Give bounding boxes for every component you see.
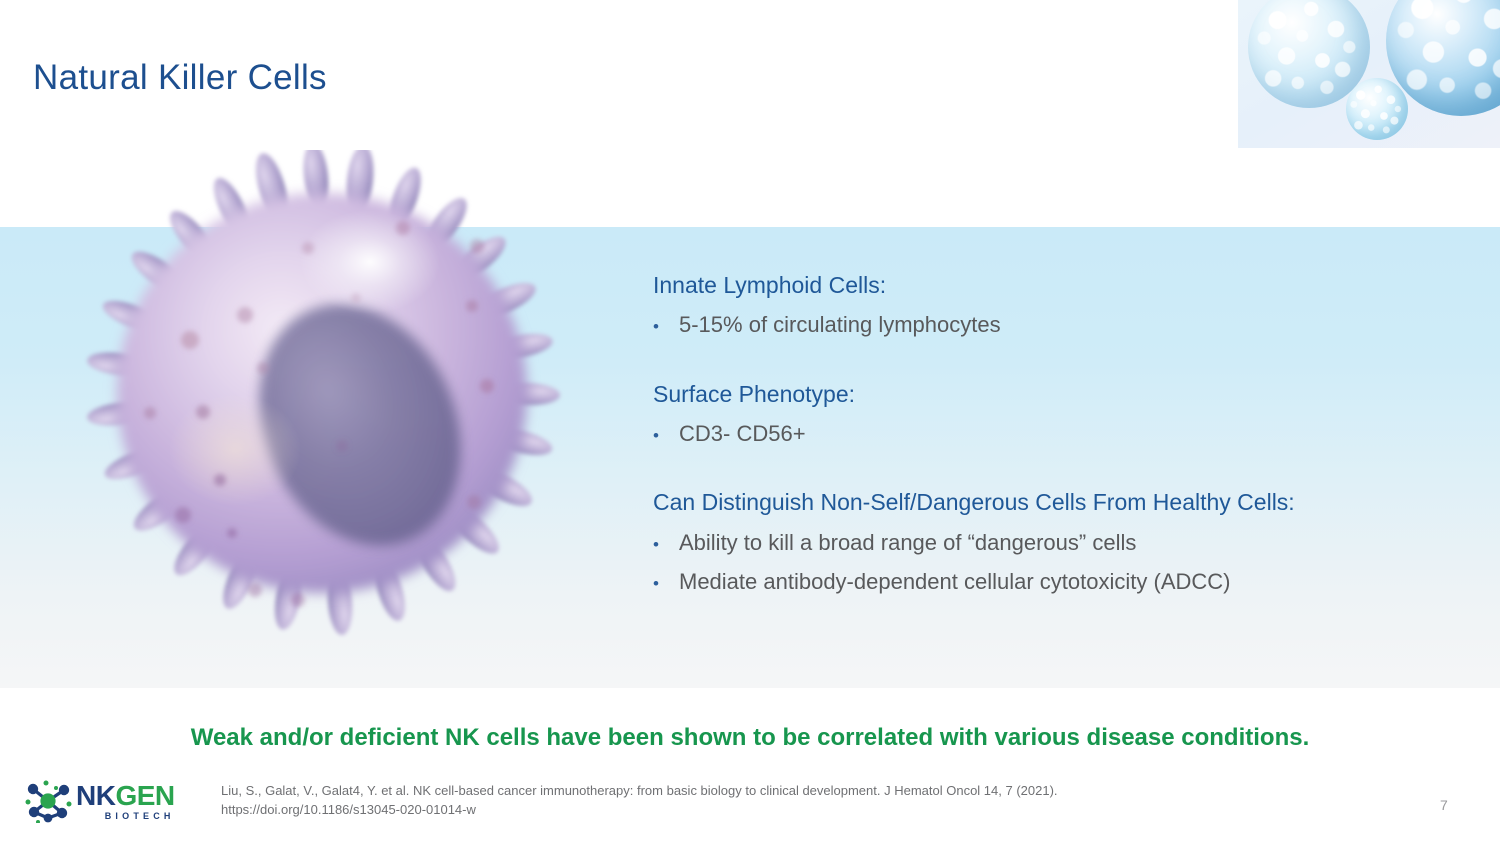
- bullet-text: 5-15% of circulating lymphocytes: [679, 312, 1001, 337]
- molecule-icon: [24, 779, 72, 823]
- citation: Liu, S., Galat, V., Galat4, Y. et al. NK…: [221, 782, 1058, 820]
- bullet-dot-icon: •: [653, 427, 679, 444]
- bullet-text: Mediate antibody-dependent cellular cyto…: [679, 569, 1230, 594]
- section-heading: Surface Phenotype:: [653, 381, 1453, 407]
- natural-killer-cell-illustration: [60, 150, 620, 680]
- bullet-dot-icon: •: [653, 575, 679, 592]
- section-innate-lymphoid-cells: Innate Lymphoid Cells: • 5-15% of circul…: [653, 272, 1453, 338]
- section-heading: Innate Lymphoid Cells:: [653, 272, 1453, 298]
- cell-warm-glow: [169, 394, 301, 506]
- deco-cell-small-icon: [1346, 78, 1408, 140]
- logo-name-gen: GEN: [115, 780, 174, 811]
- list-item: • Mediate antibody-dependent cellular cy…: [653, 569, 1453, 594]
- citation-line-2[interactable]: https://doi.org/10.1186/s13045-020-01014…: [221, 801, 1058, 820]
- citation-line-1: Liu, S., Galat, V., Galat4, Y. et al. NK…: [221, 782, 1058, 801]
- logo-name: NKGEN: [76, 783, 175, 810]
- logo-name-nk: NK: [76, 780, 115, 811]
- section-spacer: [653, 338, 1453, 381]
- logo-wordmark: NKGEN BIOTECH: [76, 783, 175, 822]
- cell-highlight: [300, 210, 440, 314]
- page-title: Natural Killer Cells: [33, 58, 327, 98]
- section-heading: Can Distinguish Non-Self/Dangerous Cells…: [653, 489, 1453, 515]
- content-text-column: Innate Lymphoid Cells: • 5-15% of circul…: [653, 272, 1453, 595]
- nkgen-biotech-logo: NKGEN BIOTECH: [24, 779, 175, 823]
- bullet-text: Ability to kill a broad range of “danger…: [679, 530, 1136, 555]
- immune-cell-cluster-decoration: [1238, 0, 1500, 148]
- list-item: • Ability to kill a broad range of “dang…: [653, 530, 1453, 555]
- tagline-text: Weak and/or deficient NK cells have been…: [0, 724, 1500, 752]
- bullet-dot-icon: •: [653, 318, 679, 335]
- logo-tagline: BIOTECH: [76, 811, 175, 821]
- list-item: • CD3- CD56+: [653, 421, 1453, 446]
- list-item: • 5-15% of circulating lymphocytes: [653, 312, 1453, 337]
- section-can-distinguish-cells: Can Distinguish Non-Self/Dangerous Cells…: [653, 489, 1453, 594]
- slide-canvas: Natural Killer Cells: [0, 0, 1500, 844]
- bullet-dot-icon: •: [653, 536, 679, 553]
- bullet-text: CD3- CD56+: [679, 421, 806, 446]
- page-number: 7: [1440, 797, 1448, 813]
- section-surface-phenotype: Surface Phenotype: • CD3- CD56+: [653, 381, 1453, 447]
- section-spacer: [653, 446, 1453, 489]
